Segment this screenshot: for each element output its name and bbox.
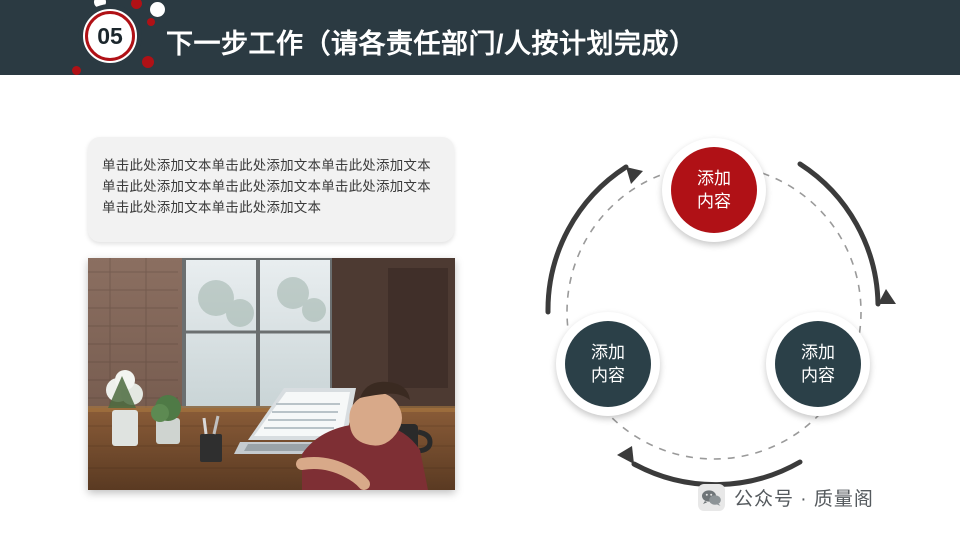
page-title: 下一步工作（请各责任部门/人按计划完成） bbox=[166, 22, 697, 61]
decorative-red-dot bbox=[72, 66, 81, 75]
cycle-node-top[interactable]: 添加 内容 bbox=[662, 138, 766, 242]
cycle-diagram: 添加 内容 添加 内容 添加 内容 bbox=[500, 120, 930, 510]
photo-illustration bbox=[88, 258, 455, 490]
decorative-red-dot bbox=[147, 18, 155, 26]
decorative-red-dot bbox=[131, 0, 142, 9]
cycle-node-left-inner: 添加 内容 bbox=[565, 321, 651, 407]
decorative-red-dot bbox=[142, 56, 154, 68]
cycle-node-right-inner: 添加 内容 bbox=[775, 321, 861, 407]
cycle-node-right-line1: 添加 bbox=[801, 341, 835, 364]
badge-inner-circle: 05 bbox=[85, 11, 135, 61]
text-line-2: 单击此处添加文本单击此处添加文本单击此处添加文本 bbox=[102, 176, 434, 197]
wechat-glyph bbox=[702, 490, 721, 506]
badge-number-label: 05 bbox=[97, 25, 123, 48]
cycle-node-top-inner: 添加 内容 bbox=[671, 147, 757, 233]
text-line-1: 单击此处添加文本单击此处添加文本单击此处添加文本 bbox=[102, 155, 434, 176]
decorative-white-dot bbox=[150, 2, 165, 17]
text-line-3: 单击此处添加文本单击此处添加文本 bbox=[102, 197, 434, 218]
cycle-node-left-line2: 内容 bbox=[591, 364, 625, 387]
watermark-text: 公众号 · 质量阁 bbox=[734, 484, 874, 511]
section-number-badge: 05 bbox=[38, 0, 163, 86]
wechat-icon bbox=[698, 484, 725, 511]
cycle-node-left[interactable]: 添加 内容 bbox=[556, 312, 660, 416]
watermark: 公众号 · 质量阁 bbox=[698, 484, 874, 511]
cycle-node-left-line1: 添加 bbox=[591, 341, 625, 364]
text-placeholder-card[interactable]: 单击此处添加文本单击此处添加文本单击此处添加文本 单击此处添加文本单击此处添加文… bbox=[88, 137, 454, 242]
cycle-node-right[interactable]: 添加 内容 bbox=[766, 312, 870, 416]
cycle-node-top-line1: 添加 bbox=[697, 167, 731, 190]
cycle-node-top-line2: 内容 bbox=[697, 190, 731, 213]
photo-image bbox=[88, 258, 455, 490]
slide: 下一步工作（请各责任部门/人按计划完成） 05 单击此处添加文本单击此处添加文本… bbox=[0, 0, 960, 540]
cycle-node-right-line2: 内容 bbox=[801, 364, 835, 387]
